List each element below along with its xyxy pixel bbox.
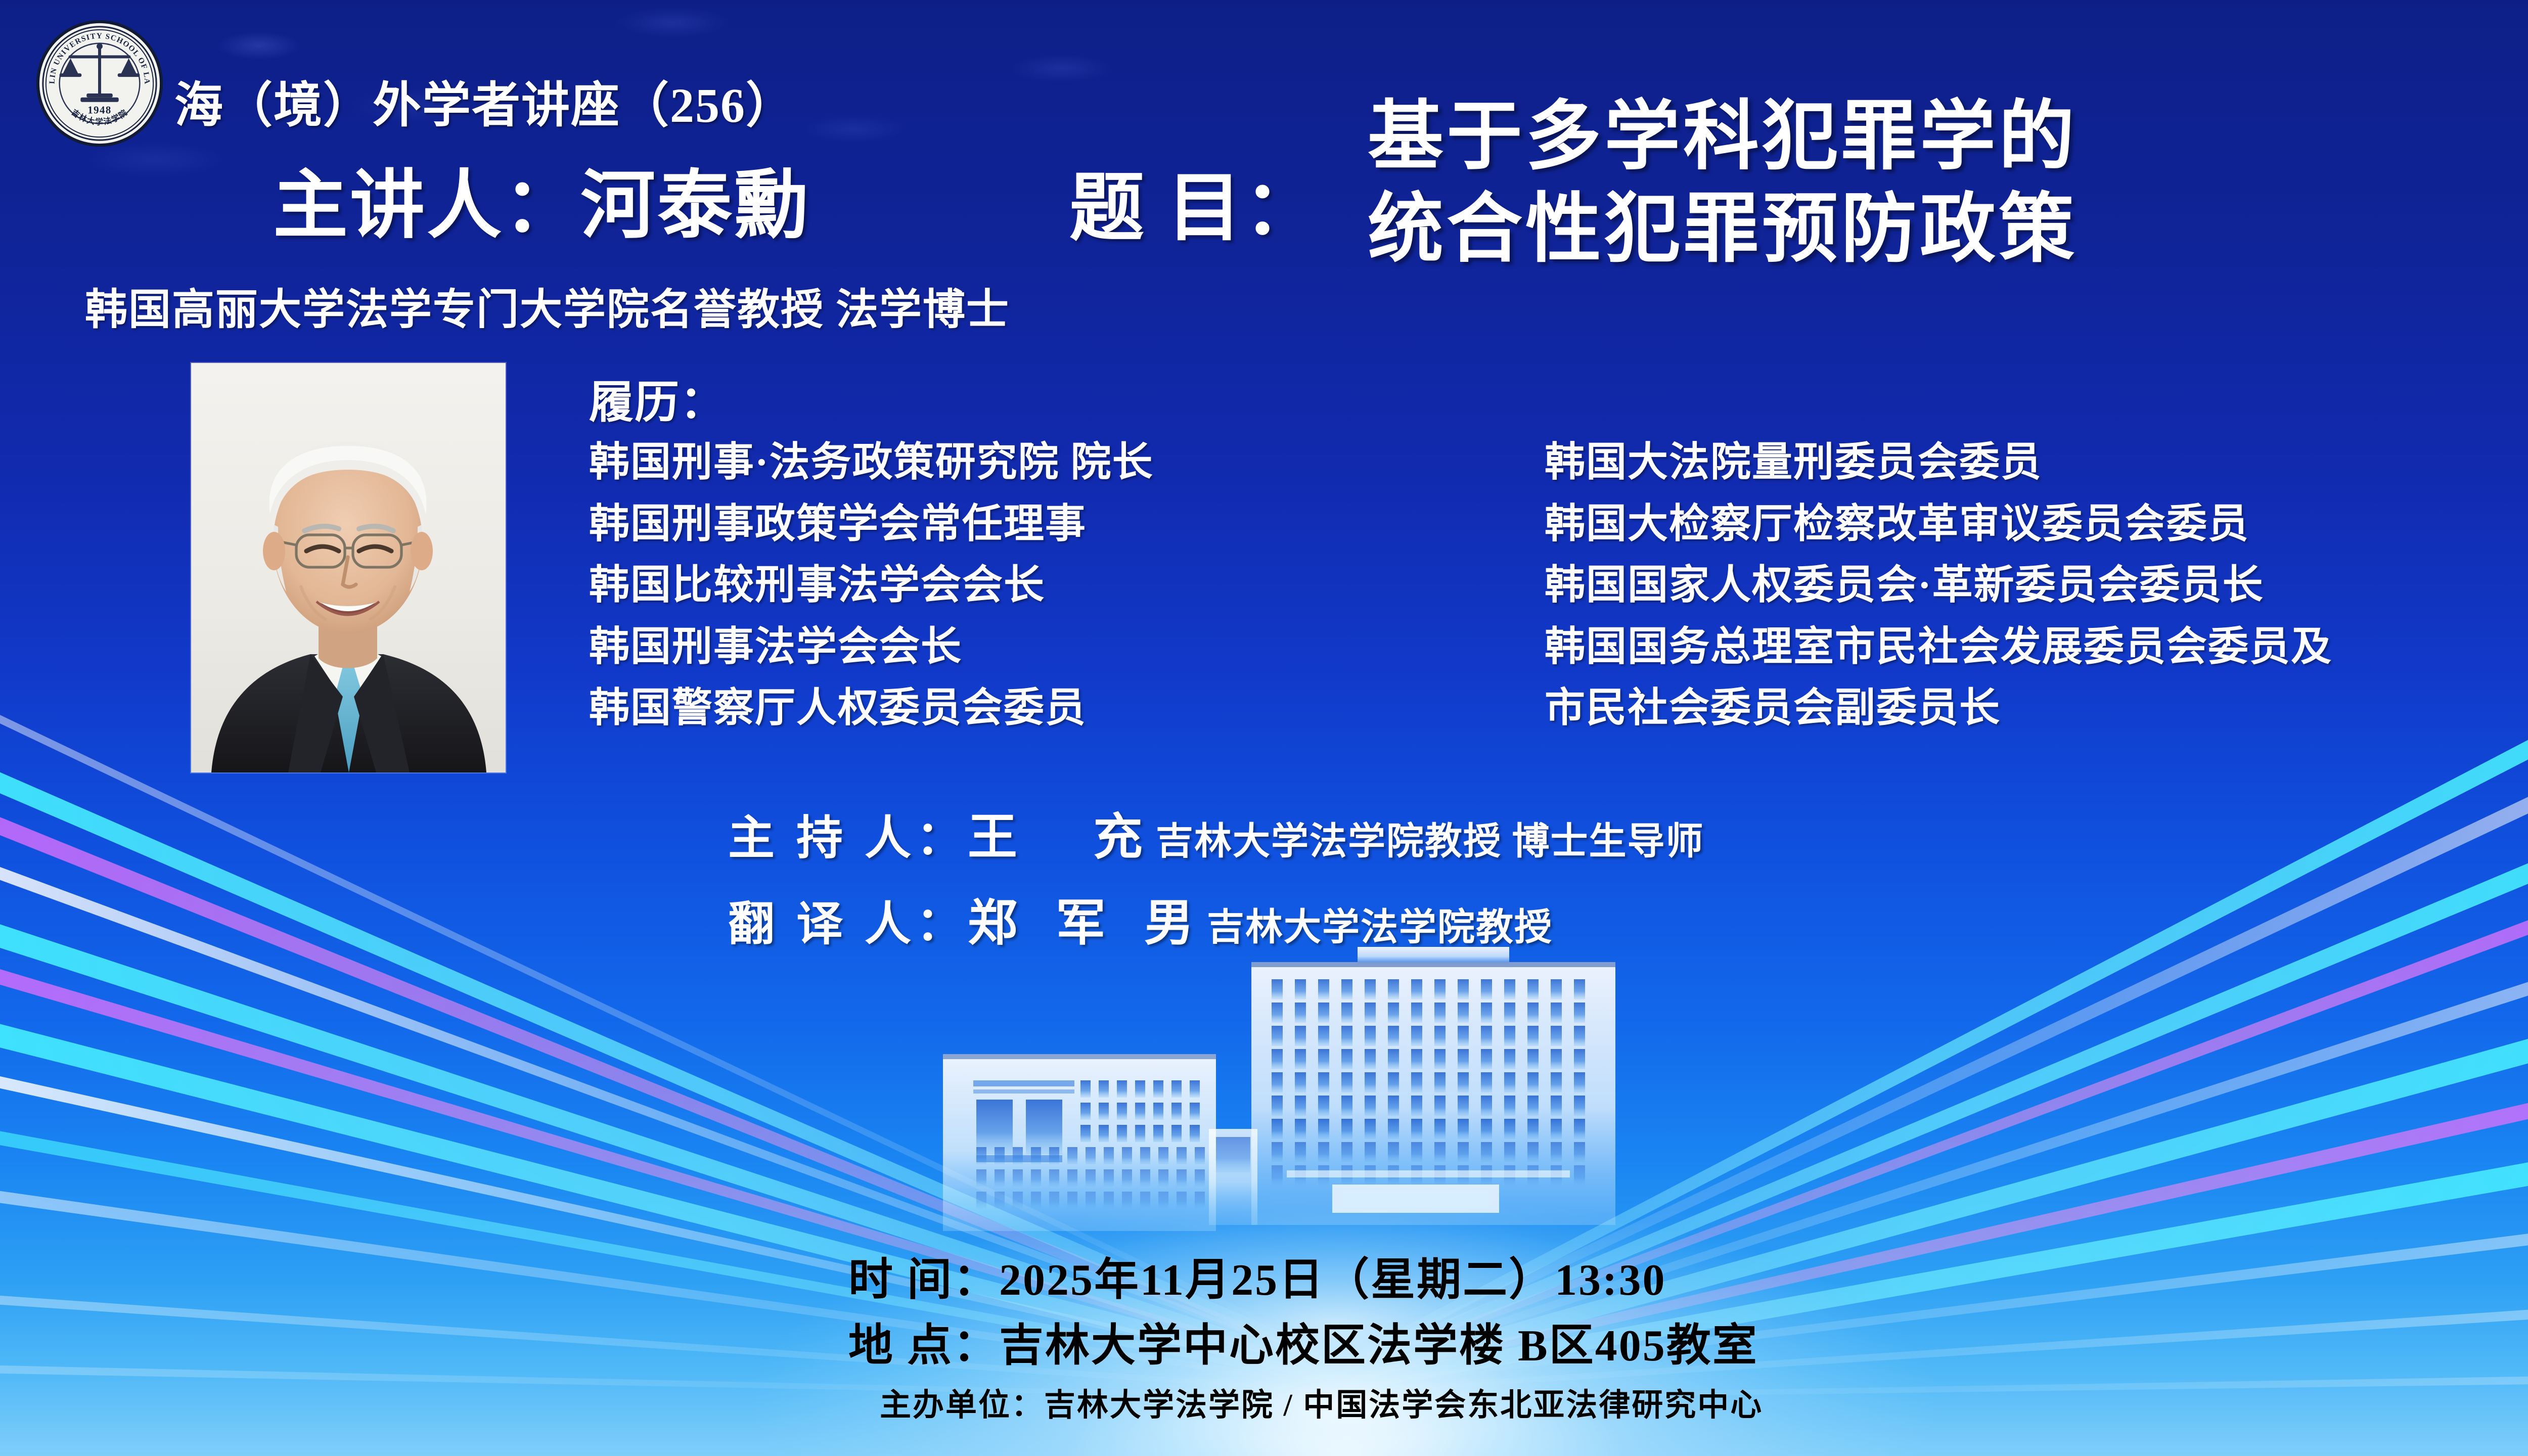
campus-building-illustration [887, 933, 1676, 1236]
host-label: 主 持 人： [728, 812, 968, 864]
event-time: 时 间：2025年11月25日（星期二）13:30 [848, 1244, 1666, 1308]
cv-item: 韩国大检察厅检察改革审议委员会委员 [1545, 494, 2332, 556]
time-label: 时 间： [848, 1256, 999, 1305]
translator-line: 翻 译 人：郑 军 男吉林大学法学院教授 [728, 883, 1553, 954]
translator-description: 吉林大学法学院教授 [1207, 907, 1553, 948]
time-value: 2025年11月25日（星期二）13:30 [999, 1256, 1666, 1305]
cv-left-column: 韩国刑事·法务政策研究院 院长 韩国刑事政策学会常任理事 韩国比较刑事法学会会长… [589, 432, 1154, 740]
topic-line-2: 统合性犯罪预防政策 [1368, 184, 2078, 276]
svg-text:1948: 1948 [87, 104, 112, 116]
cv-item: 韩国刑事法学会会长 [589, 617, 1154, 678]
cv-item: 韩国国家人权委员会·革新委员会委员长 [1545, 555, 2332, 617]
event-place: 地 点：吉林大学中心校区法学楼 B区405教室 [848, 1309, 1758, 1374]
topic-label: 题 目： [1069, 147, 1321, 255]
cv-item: 韩国刑事·法务政策研究院 院长 [589, 432, 1154, 494]
cv-item: 韩国警察厅人权委员会委员 [589, 678, 1154, 740]
speaker-line: 主讲人：河泰勳 [273, 144, 811, 253]
speaker-affiliation: 韩国高丽大学法学专门大学院名誉教授 法学博士 [85, 276, 1010, 337]
place-value: 吉林大学中心校区法学楼 B区405教室 [999, 1322, 1758, 1371]
speaker-photo [191, 363, 506, 772]
translator-label: 翻 译 人： [728, 898, 968, 950]
organizer-line: 主办单位：吉林大学法学院 / 中国法学会东北亚法律研究中心 [880, 1379, 1763, 1425]
host-name: 王 充 [968, 810, 1156, 865]
lecture-poster: JILIN UNIVERSITY SCHOOL OF LAW 吉林大学法学院 1… [0, 0, 2528, 1456]
cv-heading: 履历： [589, 367, 726, 431]
place-label: 地 点： [848, 1322, 999, 1371]
university-logo: JILIN UNIVERSITY SCHOOL OF LAW 吉林大学法学院 1… [34, 18, 165, 149]
cv-item: 韩国刑事政策学会常任理事 [589, 494, 1154, 556]
topic-text: 基于多学科犯罪学的 统合性犯罪预防政策 [1368, 91, 2078, 276]
speaker-label: 主讲人： [273, 165, 580, 248]
topic-line-1: 基于多学科犯罪学的 [1368, 91, 2078, 184]
cv-item: 韩国大法院量刑委员会委员 [1545, 432, 2332, 494]
cv-item: 市民社会委员会副委员长 [1545, 678, 2332, 740]
cv-item: 韩国比较刑事法学会会长 [589, 555, 1154, 617]
host-description: 吉林大学法学院教授 博士生导师 [1156, 821, 1704, 862]
lecture-series-title: 海（境）外学者讲座（256） [174, 66, 795, 136]
cv-item: 韩国国务总理室市民社会发展委员会委员及 [1545, 617, 2332, 678]
cv-right-column: 韩国大法院量刑委员会委员 韩国大检察厅检察改革审议委员会委员 韩国国家人权委员会… [1545, 432, 2332, 740]
translator-name: 郑 军 男 [968, 896, 1207, 951]
host-line: 主 持 人：王 充吉林大学法学院教授 博士生导师 [728, 797, 1704, 869]
speaker-name: 河泰勳 [580, 165, 811, 248]
